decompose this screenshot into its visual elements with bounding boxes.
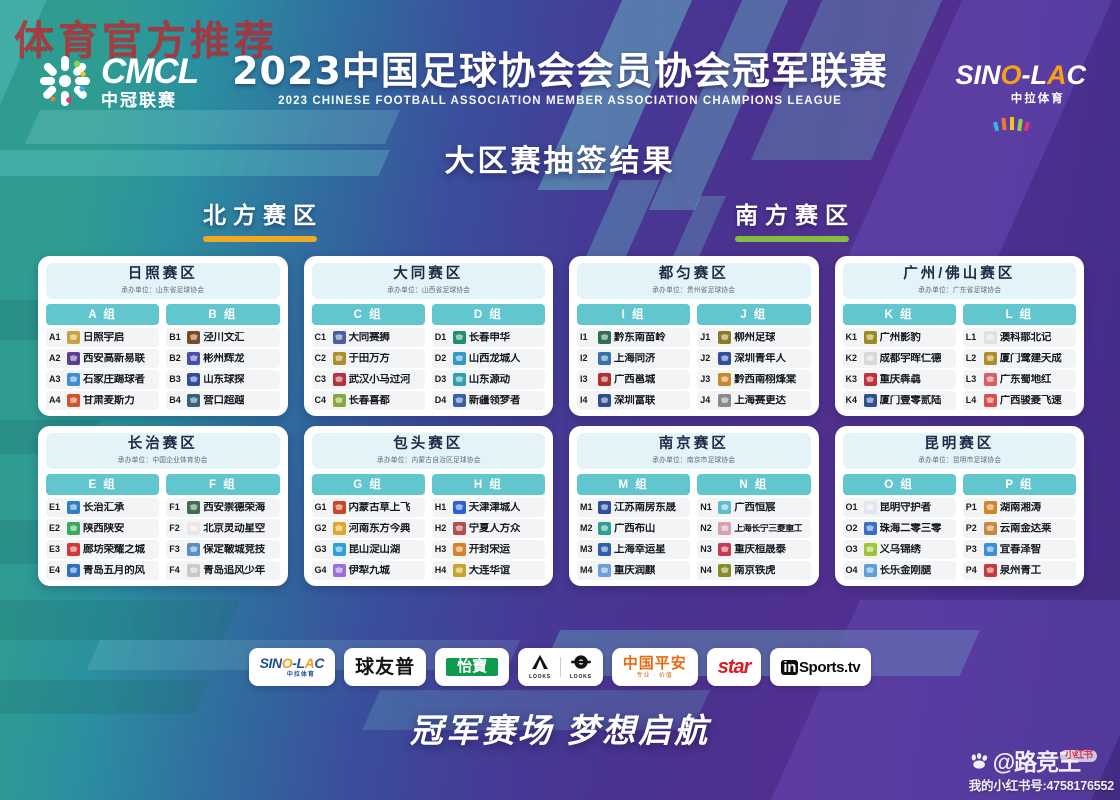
team-name: 长春申华 [469,332,510,344]
sponsor-logo-sino[interactable]: SINO-LAC中拉体育 [249,648,336,686]
team-name: 厦门鹭建天成 [1000,353,1062,365]
table-row[interactable]: J3黔西南栩烽棠 [697,370,810,389]
team-crest-icon [333,522,346,535]
watermark: @路竞王 小红书 我的小红书号:4758176552 [969,751,1114,794]
team-slot-code: F2 [169,523,184,533]
team-name: 深圳青年人 [734,353,786,365]
team-slot-code: E2 [49,523,64,533]
team-name: 黔西南栩烽棠 [734,374,796,386]
team-slot-code: B3 [169,374,184,384]
team-slot-code: J3 [700,374,715,384]
table-row[interactable]: G2河南东方今典 [312,519,425,538]
group-title: O 组 [843,474,956,495]
team-crest-icon [453,564,466,577]
team-name: 义乌锦绣 [880,544,921,556]
team-name: 广州影豹 [880,332,921,344]
team-rows: M1江苏南房东晟M2广西布山M3上海幸运星M4重庆润麒 [577,498,690,580]
team-name: 昆山淀山湖 [349,544,401,556]
table-row[interactable]: H4大连华谊 [432,561,545,580]
team-name: 长治汇承 [83,502,124,514]
table-row[interactable]: O4长乐金刚腿 [843,561,956,580]
table-row[interactable]: A4甘肃麦斯力 [46,391,159,410]
venue-name: 都匀赛区 [577,267,811,283]
team-slot-code: M1 [580,502,595,512]
team-name: 广西恒宸 [734,502,775,514]
team-slot-code: D1 [435,332,450,342]
team-name: 长春喜都 [349,395,390,407]
group-columns: K 组K1广州影豹K2成都宇晖仁德K3重庆犇骉K4厦门壹零贰陆L 组L1澳科鄁北… [843,304,1077,410]
team-rows: C1大同赛狮C2于田万方C3武汉小马过河C4长春喜都 [312,328,425,410]
sponsor-name: star [718,657,751,677]
sponsor-logo-star[interactable]: star [707,648,762,686]
team-slot-code: H3 [435,544,450,554]
team-crest-icon [718,352,731,365]
team-slot-code: I4 [580,395,595,405]
team-slot-code: B4 [169,395,184,405]
team-crest-icon [864,352,877,365]
group-columns: C 组C1大同赛狮C2于田万方C3武汉小马过河C4长春喜都D 组D1长春申华D2… [312,304,546,410]
team-name: 云南金达莱 [1000,523,1052,535]
group-column: M 组M1江苏南房东晟M2广西布山M3上海幸运星M4重庆润麒 [577,474,690,580]
sponsor-name: SINO-LAC [260,656,325,670]
sponsor-insports-text: inSports.tv [781,660,860,675]
group-column: J 组J1柳州足球J2深圳青年人J3黔西南栩烽棠J4上海赛更达 [697,304,810,410]
table-row[interactable]: L2厦门鹭建天成 [963,349,1076,368]
team-crest-icon [984,501,997,514]
team-name: 青岛五月的风 [83,565,145,577]
table-row[interactable]: N1广西恒宸 [697,498,810,517]
region-underline-north [203,236,317,242]
team-slot-code: E1 [49,502,64,512]
team-name: 南京铁虎 [734,565,775,577]
team-slot-code: A4 [49,395,64,405]
table-row[interactable]: O1昆明守护者 [843,498,956,517]
team-name: 山东球探 [203,374,244,386]
team-crest-icon [453,331,466,344]
looks-tent-icon [530,654,550,670]
team-crest-icon [453,373,466,386]
venue-card-header: 昆明赛区承办单位：昆明市足球协会 [843,433,1077,469]
table-row[interactable]: B1泾川文汇 [166,328,279,347]
group-title: I 组 [577,304,690,325]
table-row[interactable]: G4伊犁九城 [312,561,425,580]
team-slot-code: K1 [846,332,861,342]
team-name: 西安崇德荣海 [203,502,265,514]
table-row[interactable]: E2陕西陕安 [46,519,159,538]
team-name: 黔东南苗岭 [614,332,666,344]
table-row[interactable]: I4深圳富联 [577,391,690,410]
table-row[interactable]: B4营口超越 [166,391,279,410]
table-row[interactable]: I2上海同济 [577,349,690,368]
team-slot-code: I1 [580,332,595,342]
table-row[interactable]: O3义乌锦绣 [843,540,956,559]
group-columns: E 组E1长治汇承E2陕西陕安E3廊坊荣耀之城E4青岛五月的风F 组F1西安崇德… [46,474,280,580]
group-title: B 组 [166,304,279,325]
sponsor-name: 中国平安 [623,656,687,671]
team-crest-icon [598,331,611,344]
team-rows: N1广西恒宸N2上海长宁三菱重工N3重庆桓晟泰N4南京铁虎 [697,498,810,580]
team-name: 上海长宁三菱重工 [734,524,802,534]
sinolac-logo-cn: 中拉体育 [989,94,1086,106]
team-crest-icon [984,543,997,556]
team-name: 伊犁九城 [349,565,390,577]
team-crest-icon [333,501,346,514]
venue-name: 包头赛区 [312,437,546,453]
venue-name: 昆明赛区 [843,437,1077,453]
sponsor-logo-ins[interactable]: inSports.tv [770,648,871,686]
team-name: 陕西陕安 [83,523,124,535]
team-name: 彬州辉龙 [203,353,244,365]
group-title: E 组 [46,474,159,495]
team-crest-icon [864,564,877,577]
team-slot-code: K2 [846,353,861,363]
team-crest-icon [187,543,200,556]
team-crest-icon [187,331,200,344]
table-row[interactable]: E3廊坊荣耀之城 [46,540,159,559]
team-slot-code: F4 [169,565,184,575]
team-slot-code: J4 [700,395,715,405]
team-slot-code: J2 [700,353,715,363]
team-name: 内蒙古草上飞 [349,502,411,514]
venue-name: 日照赛区 [46,267,280,283]
team-name: 柳州足球 [734,332,775,344]
sponsor-name: LOOKS [570,675,592,680]
venue-host-organizer: 承办单位：中国企业体育协会 [51,455,275,465]
group-column: H 组H1天津津城人H2宁夏人方众H3开封宋运H4大连华谊 [432,474,545,580]
team-slot-code: G2 [315,523,330,533]
venue-card: 广州/佛山赛区承办单位：广东省足球协会K 组K1广州影豹K2成都宇晖仁德K3重庆… [835,256,1085,416]
group-column: A 组A1日照宇启A2西安高新易联A3石家庄踢球者A4甘肃麦斯力 [46,304,159,410]
table-row[interactable]: H2宁夏人方众 [432,519,545,538]
team-crest-icon [453,394,466,407]
cmcl-logo-en: CMCL [101,54,198,89]
team-name: 山东源动 [469,374,510,386]
team-name: 保定鞁城竞技 [203,544,265,556]
team-slot-code: G4 [315,565,330,575]
team-slot-code: D4 [435,395,450,405]
table-row[interactable]: D2山西龙城人 [432,349,545,368]
table-row[interactable]: E1长治汇承 [46,498,159,517]
table-row[interactable]: K2成都宇晖仁德 [843,349,956,368]
team-slot-code: H4 [435,565,450,575]
table-row[interactable]: H3开封宋运 [432,540,545,559]
table-row[interactable]: P4泉州青工 [963,561,1076,580]
team-name: 宁夏人方众 [469,523,521,535]
group-column: G 组G1内蒙古草上飞G2河南东方今典G3昆山淀山湖G4伊犁九城 [312,474,425,580]
team-slot-code: P4 [966,565,981,575]
team-name: 重庆犇骉 [880,374,921,386]
table-row[interactable]: H1天津津城人 [432,498,545,517]
team-crest-icon [67,522,80,535]
table-row[interactable]: F4青岛追风少年 [166,561,279,580]
team-rows: A1日照宇启A2西安高新易联A3石家庄踢球者A4甘肃麦斯力 [46,328,159,410]
table-row[interactable]: J1柳州足球 [697,328,810,347]
cmcl-logo-text: CMCL 中冠联赛 [101,54,198,109]
poster-canvas: 体育官方推荐 [0,0,1120,800]
venue-card: 昆明赛区承办单位：昆明市足球协会O 组O1昆明守护者O2珠海二零三零O3义乌锦绣… [835,426,1085,586]
team-name: 大同赛狮 [349,332,390,344]
table-row[interactable]: K4厦门壹零贰陆 [843,391,956,410]
table-row[interactable]: O2珠海二零三零 [843,519,956,538]
team-crest-icon [984,352,997,365]
region-name-south: 南方赛区 [735,196,855,230]
venue-card-header: 广州/佛山赛区承办单位：广东省足球协会 [843,263,1077,299]
table-row[interactable]: D4新疆领梦者 [432,391,545,410]
table-row[interactable]: C2于田万方 [312,349,425,368]
table-row[interactable]: C3武汉小马过河 [312,370,425,389]
team-rows: D1长春申华D2山西龙城人D3山东源动D4新疆领梦者 [432,328,545,410]
table-row[interactable]: D3山东源动 [432,370,545,389]
table-row[interactable]: P1湖南湘涛 [963,498,1076,517]
venue-card-header: 包头赛区承办单位：内蒙古自治区足球协会 [312,433,546,469]
team-slot-code: A2 [49,353,64,363]
team-crest-icon [67,373,80,386]
team-crest-icon [187,373,200,386]
table-row[interactable]: F1西安崇德荣海 [166,498,279,517]
venue-host-organizer: 承办单位：山西省足球协会 [316,285,540,295]
team-name: 上海赛更达 [734,395,786,407]
table-row[interactable]: G3昆山淀山湖 [312,540,425,559]
group-title: J 组 [697,304,810,325]
group-title: L 组 [963,304,1076,325]
sponsor-sinolac-text: SINO-LAC中拉体育 [260,656,325,678]
team-name: 河南东方今典 [349,523,411,535]
footer-slogan: 冠军赛场 梦想启航 [0,704,1120,752]
sponsor-logo-looks[interactable]: LOOKSLOOKS [518,648,603,686]
team-name: 武汉小马过河 [349,374,411,386]
cmcl-logo-cn: 中冠联赛 [101,92,198,109]
team-crest-icon [67,394,80,407]
looks-eye-icon [571,654,591,670]
group-column: B 组B1泾川文汇B2彬州辉龙B3山东球探B4营口超越 [166,304,279,410]
venue-card-header: 都匀赛区承办单位：贵州省足球协会 [577,263,811,299]
team-crest-icon [718,373,731,386]
team-name: 廊坊荣耀之城 [83,544,145,556]
team-crest-icon [333,373,346,386]
team-crest-icon [67,543,80,556]
team-slot-code: M4 [580,565,595,575]
team-crest-icon [598,394,611,407]
table-row[interactable]: F3保定鞁城竞技 [166,540,279,559]
sponsor-looks-marks: LOOKSLOOKS [529,654,592,680]
team-rows: H1天津津城人H2宁夏人方众H3开封宋运H4大连华谊 [432,498,545,580]
team-name: 宜春泽智 [1000,544,1041,556]
table-row[interactable]: J2深圳青年人 [697,349,810,368]
team-crest-icon [187,522,200,535]
region-heading-south: 南方赛区 [735,196,855,242]
team-slot-code: K3 [846,374,861,384]
team-slot-code: A3 [49,374,64,384]
group-title: M 组 [577,474,690,495]
team-crest-icon [864,373,877,386]
team-slot-code: L1 [966,332,981,342]
team-name: 大连华谊 [469,565,510,577]
table-row[interactable]: P3宜春泽智 [963,540,1076,559]
group-title: D 组 [432,304,545,325]
team-name: 上海同济 [614,353,655,365]
team-crest-icon [598,564,611,577]
team-crest-icon [598,543,611,556]
team-slot-code: P1 [966,502,981,512]
venue-name: 长治赛区 [46,437,280,453]
venue-card: 南京赛区承办单位：南京市足球协会M 组M1江苏南房东晟M2广西布山M3上海幸运星… [569,426,819,586]
team-slot-code: P2 [966,523,981,533]
divider [560,657,561,677]
table-row[interactable]: M3上海幸运星 [577,540,690,559]
team-slot-code: K4 [846,395,861,405]
team-slot-code: D3 [435,374,450,384]
team-crest-icon [864,522,877,535]
group-columns: M 组M1江苏南房东晟M2广西布山M3上海幸运星M4重庆润麒N 组N1广西恒宸N… [577,474,811,580]
team-crest-icon [984,564,997,577]
table-row[interactable]: K1广州影豹 [843,328,956,347]
venue-card: 长治赛区承办单位：中国企业体育协会E 组E1长治汇承E2陕西陕安E3廊坊荣耀之城… [38,426,288,586]
region-name-north: 北方赛区 [203,196,323,230]
team-crest-icon [864,331,877,344]
team-slot-code: O2 [846,523,861,533]
team-slot-code: L4 [966,395,981,405]
group-column: I 组I1黔东南苗岭I2上海同济I3广西邕城I4深圳富联 [577,304,690,410]
team-crest-icon [984,522,997,535]
team-name: 江苏南房东晟 [614,502,676,514]
venue-host-organizer: 承办单位：贵州省足球协会 [582,285,806,295]
group-column: N 组N1广西恒宸N2上海长宁三菱重工N3重庆桓晟泰N4南京铁虎 [697,474,810,580]
team-name: 营口超越 [203,395,244,407]
table-row[interactable]: M2广西布山 [577,519,690,538]
team-crest-icon [718,543,731,556]
team-crest-icon [453,352,466,365]
team-slot-code: C4 [315,395,330,405]
region-underline-south [735,236,849,242]
team-slot-code: A1 [49,332,64,342]
table-row[interactable]: A2西安高新易联 [46,349,159,368]
table-row[interactable]: C1大同赛狮 [312,328,425,347]
team-rows: G1内蒙古草上飞G2河南东方今典G3昆山淀山湖G4伊犁九城 [312,498,425,580]
table-row[interactable]: A3石家庄踢球者 [46,370,159,389]
group-title: H 组 [432,474,545,495]
team-name: 泉州青工 [1000,565,1041,577]
team-slot-code: F3 [169,544,184,554]
table-row[interactable]: F2北京灵动星空 [166,519,279,538]
group-title: N 组 [697,474,810,495]
region-heading-north: 北方赛区 [203,196,323,242]
team-crest-icon [333,394,346,407]
team-slot-code: H2 [435,523,450,533]
team-crest-icon [67,331,80,344]
team-crest-icon [984,394,997,407]
table-row[interactable]: I1黔东南苗岭 [577,328,690,347]
team-name: 成都宇晖仁德 [880,353,942,365]
venue-card-grid: 日照赛区承办单位：山东省足球协会A 组A1日照宇启A2西安高新易联A3石家庄踢球… [38,256,1084,586]
table-row[interactable]: G1内蒙古草上飞 [312,498,425,517]
sponsor-name-cn: 中拉体育 [278,672,325,678]
team-name: 昆明守护者 [880,502,932,514]
table-row[interactable]: N3重庆桓晟泰 [697,540,810,559]
team-slot-code: M2 [580,523,595,533]
venue-card: 大同赛区承办单位：山西省足球协会C 组C1大同赛狮C2于田万方C3武汉小马过河C… [304,256,554,416]
team-name: 石家庄踢球者 [83,374,145,386]
team-name: 青岛追风少年 [203,565,265,577]
table-row[interactable]: L1澳科鄁北记 [963,328,1076,347]
venue-host-organizer: 承办单位：内蒙古自治区足球协会 [316,455,540,465]
team-name: 于田万方 [349,353,390,365]
table-row[interactable]: I3广西邕城 [577,370,690,389]
sponsor-logo-pa[interactable]: 中国平安专业 · 价值 [612,648,698,686]
team-crest-icon [187,501,200,514]
team-crest-icon [333,331,346,344]
table-row[interactable]: B2彬州辉龙 [166,349,279,368]
team-crest-icon [453,543,466,556]
team-crest-icon [453,501,466,514]
group-title: K 组 [843,304,956,325]
team-rows: O1昆明守护者O2珠海二零三零O3义乌锦绣O4长乐金刚腿 [843,498,956,580]
table-row[interactable]: M4重庆润麒 [577,561,690,580]
table-row[interactable]: C4长春喜都 [312,391,425,410]
table-row[interactable]: D1长春申华 [432,328,545,347]
table-row[interactable]: J4上海赛更达 [697,391,810,410]
team-rows: K1广州影豹K2成都宇晖仁德K3重庆犇骉K4厦门壹零贰陆 [843,328,956,410]
table-row[interactable]: B3山东球探 [166,370,279,389]
confetti-icon [992,116,1032,132]
table-row[interactable]: P2云南金达莱 [963,519,1076,538]
team-name: 西安高新易联 [83,353,145,365]
team-name: 上海幸运星 [614,544,666,556]
table-row[interactable]: L3广东蜀地红 [963,370,1076,389]
team-name: 甘肃麦斯力 [83,395,135,407]
team-crest-icon [67,352,80,365]
team-slot-code: J1 [700,332,715,342]
team-rows: I1黔东南苗岭I2上海同济I3广西邕城I4深圳富联 [577,328,690,410]
team-rows: J1柳州足球J2深圳青年人J3黔西南栩烽棠J4上海赛更达 [697,328,810,410]
team-slot-code: I2 [580,353,595,363]
team-crest-icon [984,373,997,386]
table-row[interactable]: M1江苏南房东晟 [577,498,690,517]
table-row[interactable]: E4青岛五月的风 [46,561,159,580]
group-column: E 组E1长治汇承E2陕西陕安E3廊坊荣耀之城E4青岛五月的风 [46,474,159,580]
table-row[interactable]: N2上海长宁三菱重工 [697,519,810,538]
team-slot-code: B1 [169,332,184,342]
team-slot-code: N2 [700,523,715,533]
team-crest-icon [187,394,200,407]
team-crest-icon [598,352,611,365]
team-rows: E1长治汇承E2陕西陕安E3廊坊荣耀之城E4青岛五月的风 [46,498,159,580]
insports-play-icon: in [781,660,798,675]
page-title: 大区赛抽签结果 [0,136,1120,180]
table-row[interactable]: A1日照宇启 [46,328,159,347]
team-slot-code: G1 [315,502,330,512]
team-slot-code: N4 [700,565,715,575]
table-row[interactable]: N4南京铁虎 [697,561,810,580]
looks-mark: LOOKS [570,654,592,680]
group-column: F 组F1西安崇德荣海F2北京灵动星空F3保定鞁城竞技F4青岛追风少年 [166,474,279,580]
sponsor-logo-yibao[interactable]: 怡寶 [435,648,509,686]
team-crest-icon [718,394,731,407]
team-name: 新疆领梦者 [469,395,521,407]
team-slot-code: O4 [846,565,861,575]
team-name: 澳科鄁北记 [1000,332,1052,344]
table-row[interactable]: K3重庆犇骉 [843,370,956,389]
group-title: A 组 [46,304,159,325]
team-slot-code: C3 [315,374,330,384]
team-name: 开封宋运 [469,544,510,556]
venue-name: 南京赛区 [577,437,811,453]
team-name: 长乐金刚腿 [880,565,932,577]
venue-name: 广州/佛山赛区 [843,267,1077,283]
team-name: 深圳富联 [614,395,655,407]
table-row[interactable]: L4广西骏菱飞速 [963,391,1076,410]
region-headings: 北方赛区 南方赛区 [0,196,1120,242]
sponsor-logo-qiu[interactable]: 球友普 [344,648,426,686]
